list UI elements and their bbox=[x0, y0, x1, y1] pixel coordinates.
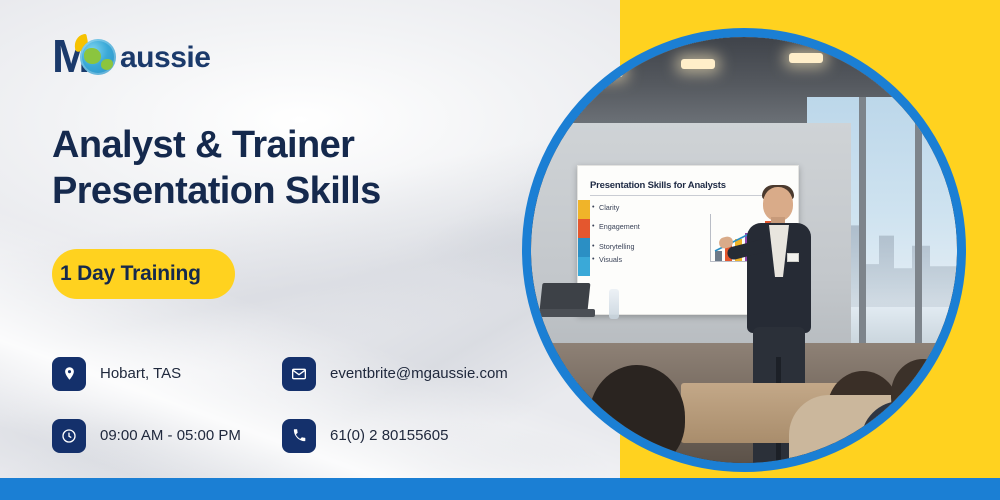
ceiling-light bbox=[681, 59, 715, 69]
slide-color-strip bbox=[578, 200, 590, 278]
slide-bullet: Engagement bbox=[592, 223, 640, 231]
water-bottle bbox=[609, 289, 619, 319]
logo-wordmark: aussie bbox=[120, 41, 210, 75]
envelope-icon bbox=[282, 357, 316, 391]
presenter-head bbox=[763, 187, 793, 221]
bottom-accent-bar bbox=[0, 478, 1000, 500]
location-item: Hobart, TAS bbox=[52, 357, 282, 391]
brand-logo: M aussie bbox=[52, 30, 522, 86]
slide-title: Presentation Skills for Analysts bbox=[590, 180, 726, 191]
location-pin-icon bbox=[52, 357, 86, 391]
event-details: Hobart, TAS eventbrite@mgaussie.com bbox=[52, 357, 522, 453]
globe-icon bbox=[80, 39, 116, 75]
badge-wrapper: 1 Day Training bbox=[52, 249, 522, 299]
headline-line-1: Analyst & Trainer bbox=[52, 122, 522, 168]
slide-bullets: Clarity Engagement Storytelling Visuals bbox=[592, 204, 640, 269]
status-badge: 1 Day Training bbox=[52, 249, 235, 299]
headline-line-2: Presentation Skills bbox=[52, 168, 522, 214]
ceiling-light bbox=[589, 67, 623, 77]
clock-icon bbox=[52, 419, 86, 453]
presenter-name-badge bbox=[787, 253, 799, 262]
slide-bullet: Storytelling bbox=[592, 243, 640, 251]
time-item: 09:00 AM - 05:00 PM bbox=[52, 419, 282, 453]
photo-circle-frame: Presentation Skills for Analysts Clarity… bbox=[522, 28, 966, 472]
time-text: 09:00 AM - 05:00 PM bbox=[100, 427, 241, 444]
logo-mark: M bbox=[52, 33, 114, 83]
phone-icon bbox=[282, 419, 316, 453]
page-title: Analyst & Trainer Presentation Skills bbox=[52, 122, 522, 215]
laptop-base bbox=[539, 309, 595, 317]
slide-bullet: Clarity bbox=[592, 204, 640, 212]
details-row-2: 09:00 AM - 05:00 PM 61(0) 2 80155605 bbox=[52, 419, 522, 453]
presentation-photo: Presentation Skills for Analysts Clarity… bbox=[531, 37, 957, 463]
location-text: Hobart, TAS bbox=[100, 365, 181, 382]
email-item[interactable]: eventbrite@mgaussie.com bbox=[282, 357, 508, 391]
slide-bullet: Visuals bbox=[592, 256, 640, 264]
banner-content: M aussie Analyst & Trainer Presentation … bbox=[52, 30, 522, 481]
phone-text[interactable]: 61(0) 2 80155605 bbox=[330, 427, 448, 444]
email-text[interactable]: eventbrite@mgaussie.com bbox=[330, 365, 508, 382]
audience-shoulders bbox=[861, 401, 957, 463]
audience-head bbox=[589, 365, 685, 463]
details-row-1: Hobart, TAS eventbrite@mgaussie.com bbox=[52, 357, 522, 391]
phone-item[interactable]: 61(0) 2 80155605 bbox=[282, 419, 448, 453]
event-banner: Presentation Skills for Analysts Clarity… bbox=[0, 0, 1000, 500]
laptop-lid bbox=[540, 283, 591, 311]
ceiling-light bbox=[789, 53, 823, 63]
